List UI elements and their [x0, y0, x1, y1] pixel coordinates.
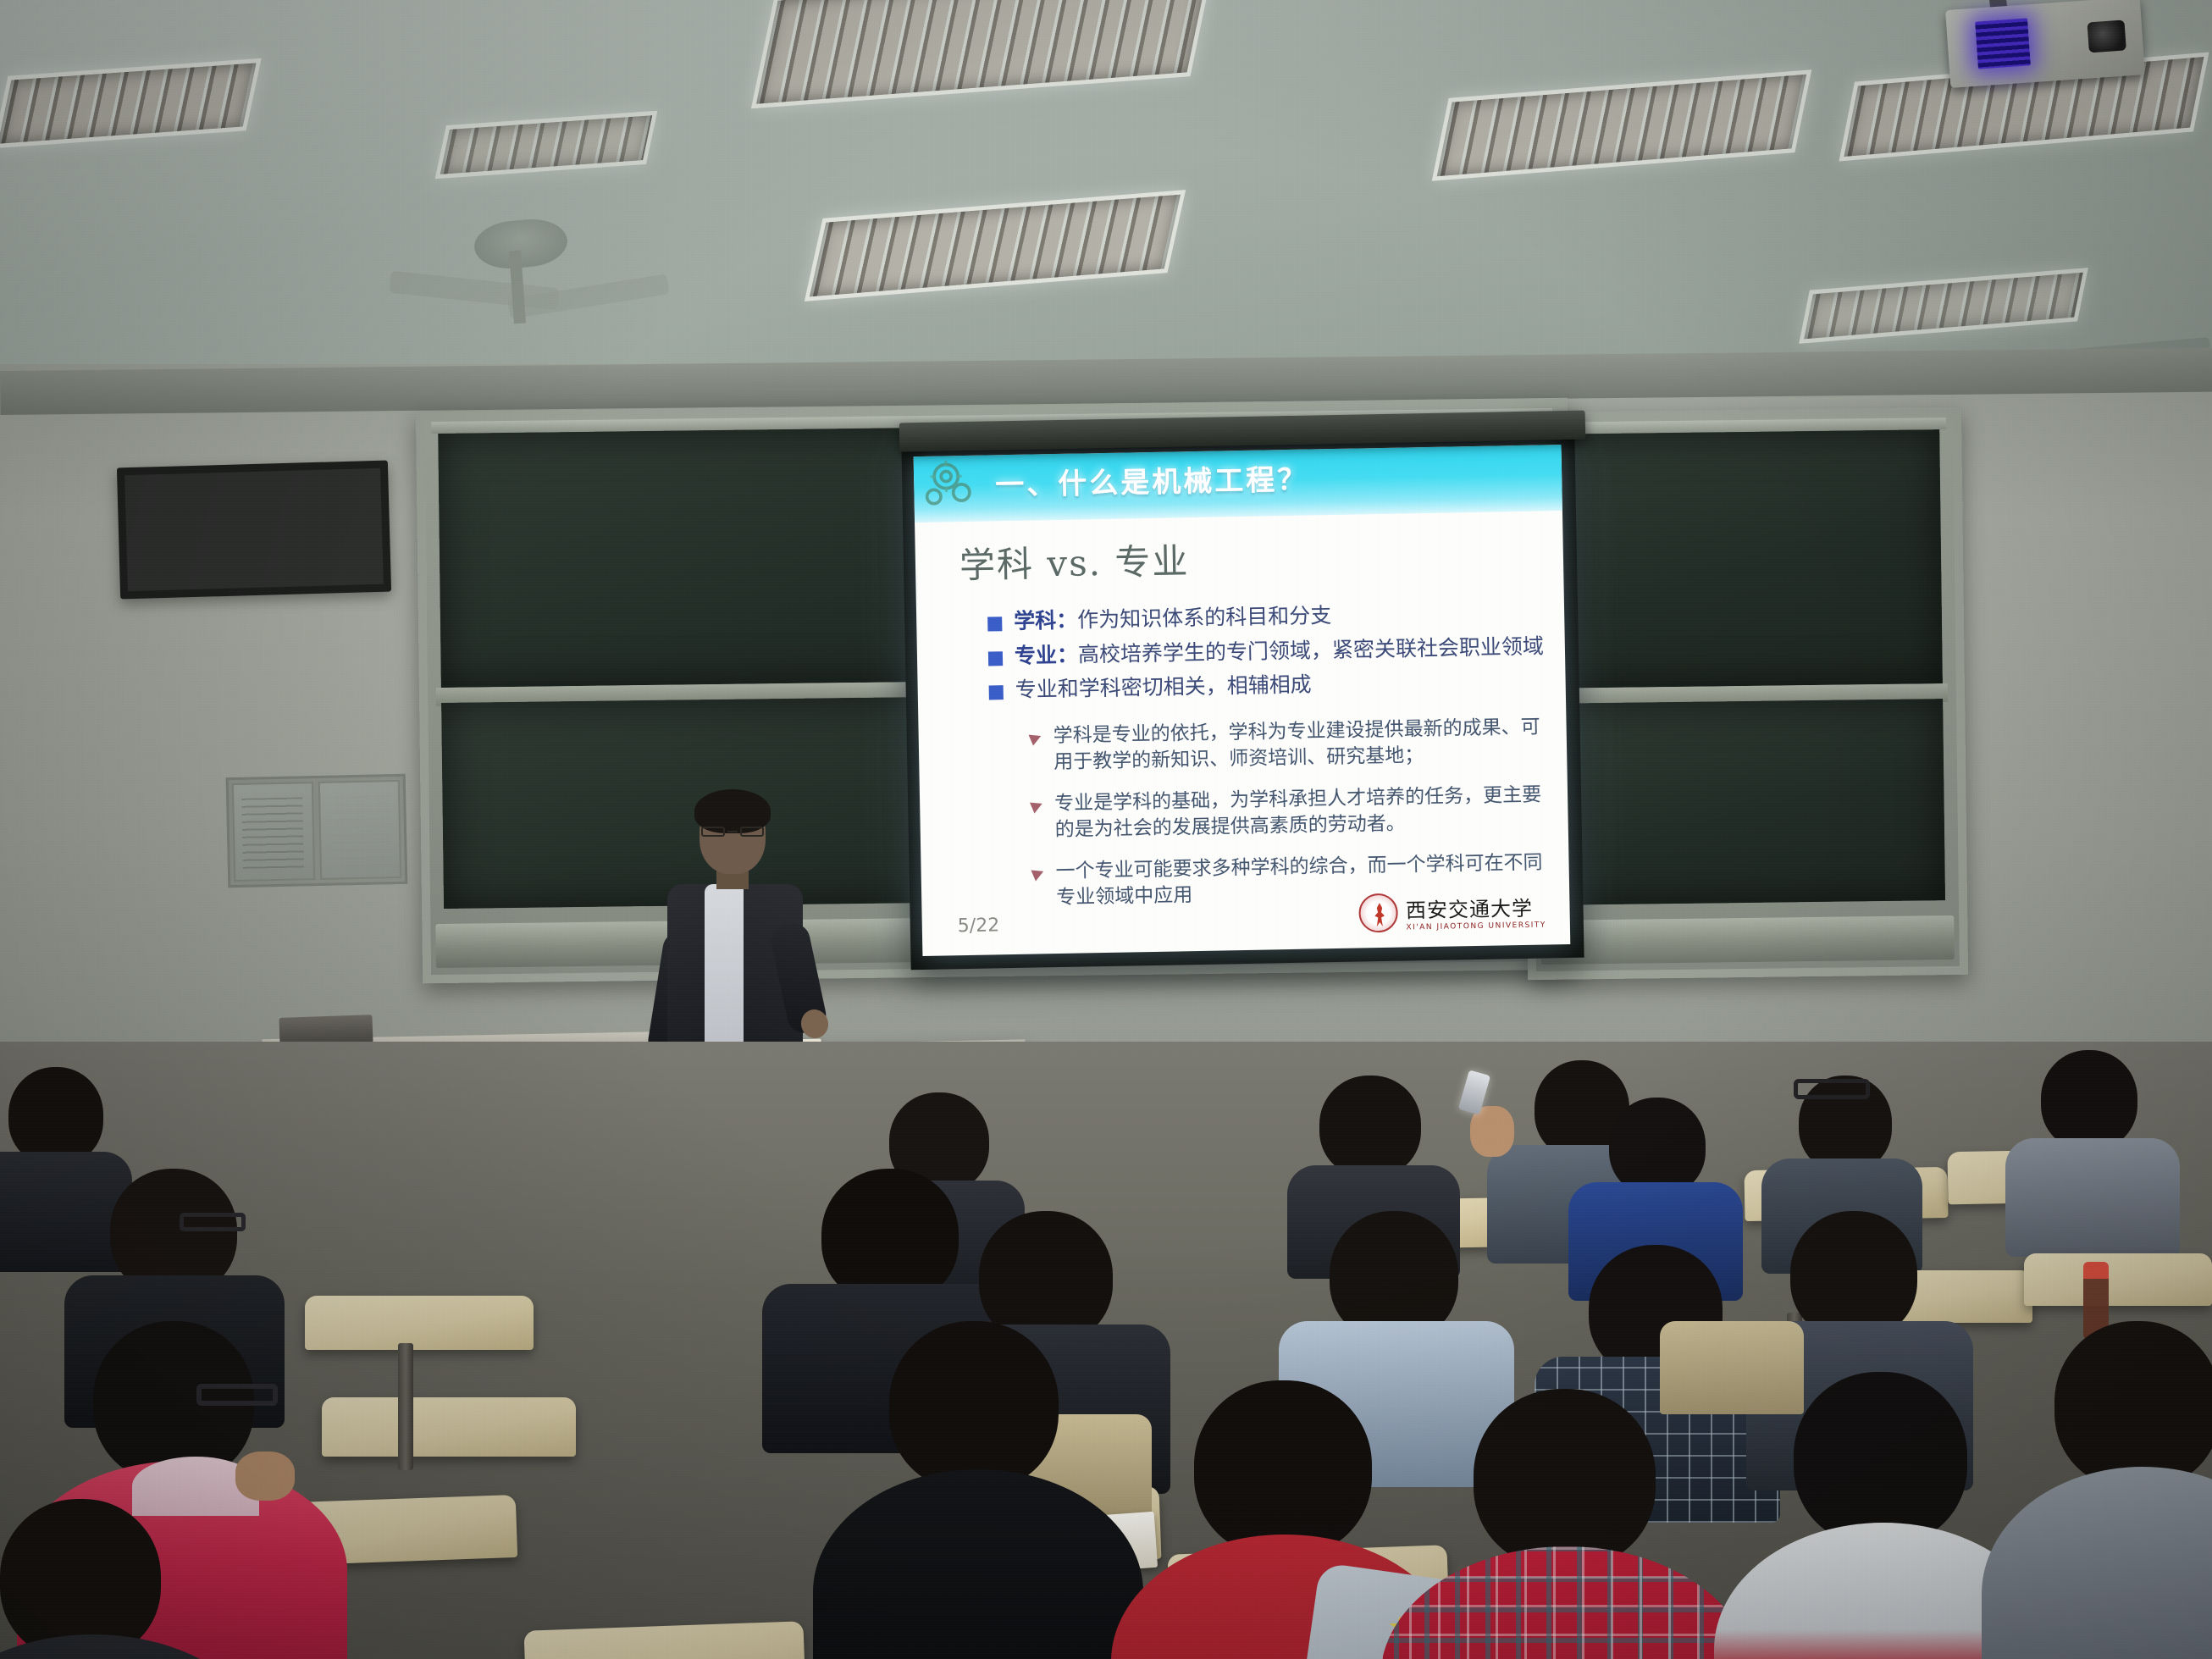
- desk: [2024, 1253, 2212, 1306]
- student: [2016, 1050, 2168, 1236]
- student: [1736, 1372, 2016, 1659]
- ceiling-light-fixture: [751, 0, 1214, 108]
- university-seal-icon: [1359, 893, 1399, 933]
- ceiling-light-fixture: [1799, 268, 2088, 344]
- ceiling-light-fixture: [805, 190, 1186, 301]
- sliding-chalkboard-right: [1521, 407, 1968, 980]
- slide-bullet: 学科：作为知识体系的科目和分支: [987, 599, 1544, 635]
- bullet-rest: 作为知识体系的科目和分支: [1077, 603, 1331, 632]
- chalkboard-panel-lower: [1546, 699, 1945, 905]
- arrow-bullet-icon: [1031, 866, 1045, 882]
- student-head: [1609, 1098, 1706, 1196]
- student: [830, 1321, 1101, 1659]
- slide-bullet-list: 学科：作为知识体系的科目和分支 专业：高校培养学生的专门领域，紧密关联社会职业领…: [987, 599, 1546, 712]
- student-head: [889, 1321, 1059, 1490]
- slide-sub-bullet: 学科是专业的依托，学科为专业建设提供最新的成果、可用于教学的新知识、师资培训、研…: [1030, 715, 1541, 777]
- student-hand: [235, 1452, 295, 1501]
- sub-bullet-text: 专业是学科的基础，为学科承担人才培养的任务，更主要的是为社会的发展提供高素质的劳…: [1054, 782, 1543, 844]
- bullet-square-icon: [989, 685, 1004, 700]
- student-body: [1380, 1546, 1753, 1659]
- wall-display-off[interactable]: [117, 461, 391, 600]
- student: [2007, 1321, 2212, 1659]
- ceiling-projector[interactable]: [1945, 0, 2145, 88]
- bullet-rest: 专业和学科密切相关，相辅相成: [1015, 672, 1311, 702]
- ceiling-light-fixture: [1432, 69, 1812, 181]
- gear-icon: [919, 457, 984, 521]
- slide-bullet: 专业：高校培养学生的专门领域，紧密关联社会职业领域: [988, 633, 1545, 670]
- student-head: [1194, 1380, 1372, 1557]
- student-head: [2054, 1321, 2212, 1489]
- bullet-square-icon: [988, 651, 1003, 666]
- bullet-lead: 专业：: [1015, 642, 1079, 667]
- projector-lens-icon: [2087, 19, 2126, 53]
- bullet-rest: 高校培养学生的专门领域，紧密关联社会职业领域: [1078, 633, 1544, 666]
- student-head: [8, 1067, 103, 1165]
- glasses-icon: [180, 1213, 246, 1231]
- glasses-icon: [196, 1384, 278, 1406]
- university-name-cn: 西安交通大学: [1406, 891, 1546, 923]
- slide-sub-bullet: 专业是学科的基础，为学科承担人才培养的任务，更主要的是为社会的发展提供高素质的劳…: [1031, 782, 1543, 844]
- student-body: [813, 1469, 1143, 1659]
- desk-leg: [398, 1343, 413, 1470]
- ceiling-light-fixture: [435, 111, 658, 180]
- glasses-icon: [1794, 1079, 1870, 1099]
- arrow-bullet-icon: [1030, 799, 1044, 814]
- bullet-square-icon: [987, 617, 1002, 631]
- student-head: [1794, 1372, 1967, 1546]
- student: [1575, 1098, 1736, 1267]
- presentation-slide: 一、什么是机械工程？ 学科 vs. 专业 学科：作为知识体系的科目和分支 专业：…: [914, 445, 1571, 956]
- university-logo: 西安交通大学 XI'AN JIAOTONG UNIVERSITY: [1359, 890, 1546, 932]
- student: [1406, 1389, 1711, 1659]
- slide-subtitle: 学科 vs. 专业: [959, 533, 1189, 589]
- student-body: [1982, 1467, 2212, 1659]
- classroom-scene: 一、什么是机械工程？ 学科 vs. 专业 学科：作为知识体系的科目和分支 专业：…: [0, 0, 2212, 1659]
- student-head: [1319, 1076, 1421, 1177]
- desk: [305, 1296, 534, 1350]
- glasses-icon: [700, 827, 766, 837]
- ceiling-light-fixture: [0, 58, 262, 148]
- projection-screen: 一、什么是机械工程？ 学科 vs. 专业 学科：作为知识体系的科目和分支 专业：…: [901, 433, 1584, 970]
- student-head: [2041, 1050, 2137, 1150]
- chalk-tray: [1540, 915, 1955, 965]
- slide-page-number: 5/22: [958, 915, 1000, 937]
- bullet-lead: 学科：: [1014, 608, 1078, 633]
- chalkboard-panel-upper: [1543, 429, 1943, 688]
- sub-bullet-text: 学科是专业的依托，学科为专业建设提供最新的成果、可用于教学的新知识、师资培训、研…: [1053, 715, 1541, 777]
- student-body: [2005, 1138, 2180, 1257]
- ceiling-fan-blade: [507, 274, 669, 318]
- projector-indicator-icon: [1975, 18, 2031, 69]
- audience-area: [0, 1042, 2212, 1659]
- student-head: [1474, 1389, 1656, 1568]
- notice-left: [232, 782, 315, 882]
- framed-notice-board: [226, 774, 408, 888]
- slide-bullet: 专业和学科密切相关，相辅相成: [988, 667, 1545, 704]
- student: [0, 1499, 220, 1659]
- notice-right: [318, 780, 401, 880]
- desk: [322, 1397, 576, 1457]
- arrow-bullet-icon: [1029, 730, 1043, 745]
- student: [1135, 1380, 1423, 1659]
